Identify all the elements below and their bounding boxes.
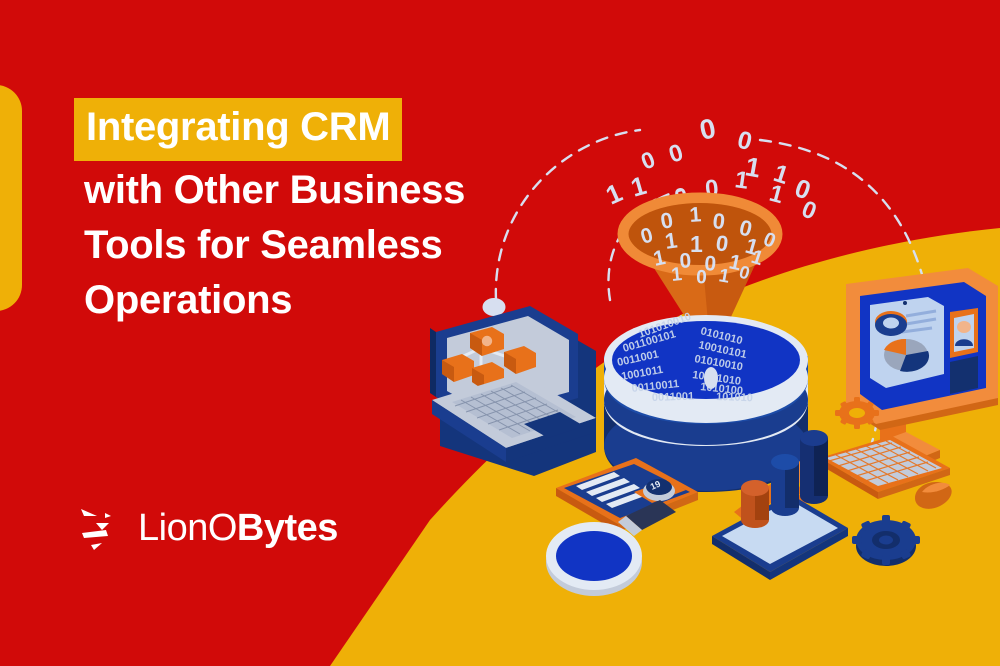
svg-text:1: 1 <box>690 231 703 257</box>
headline-line-2: with Other Business <box>84 163 554 218</box>
headline: Integrating CRM with Other Business Tool… <box>84 98 554 328</box>
banner: 0 0 0 1 0 1 1 0 0 1 0 1 1 0 0 <box>0 0 1000 666</box>
bar-3d-blue-mid <box>771 454 799 516</box>
svg-text:101010: 101010 <box>716 391 753 404</box>
svg-text:0: 0 <box>697 112 719 146</box>
logo-text-light: LionO <box>138 507 237 549</box>
svg-text:1: 1 <box>766 180 786 210</box>
logo-text: LionOBytes <box>138 507 338 550</box>
laptop <box>430 306 596 476</box>
headline-line-4: Operations <box>84 273 554 328</box>
headline-line-1: Integrating CRM <box>74 98 402 161</box>
svg-text:0011001: 0011001 <box>652 391 695 404</box>
logo[interactable]: LionOBytes <box>78 503 338 553</box>
logo-text-bold: Bytes <box>237 507 338 549</box>
svg-text:1: 1 <box>733 166 750 195</box>
svg-text:1: 1 <box>689 203 703 227</box>
svg-text:0: 0 <box>696 267 707 288</box>
mouse <box>915 482 952 509</box>
headline-line-3: Tools for Seamless <box>84 218 554 273</box>
bar-3d-orange <box>741 480 769 528</box>
donut-chart <box>875 311 907 336</box>
bar-3d-blue-tall <box>800 430 828 504</box>
lion-head-mark <box>78 503 124 553</box>
svg-text:1: 1 <box>601 177 626 210</box>
gear-large <box>852 515 920 566</box>
svg-text:0: 0 <box>666 139 687 169</box>
